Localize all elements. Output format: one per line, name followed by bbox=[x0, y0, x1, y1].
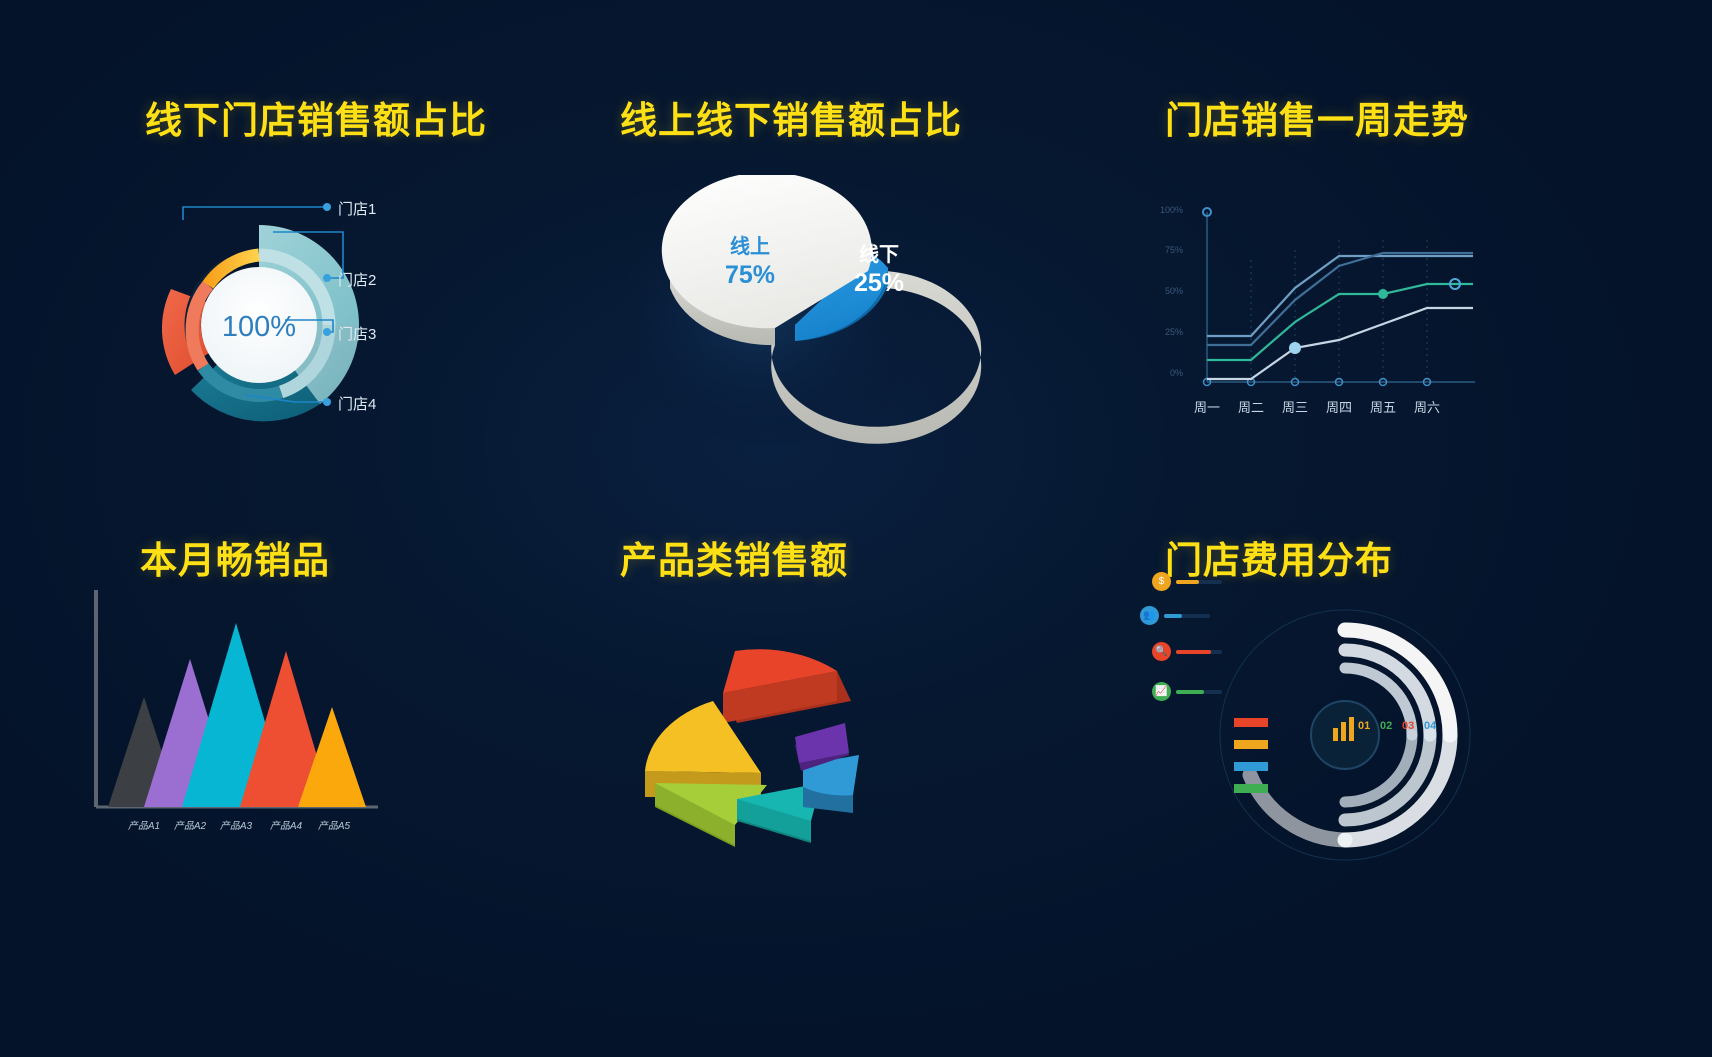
donut-label-store2: 门店2 bbox=[338, 269, 376, 290]
donut-label-store1: 门店1 bbox=[338, 198, 376, 219]
panel-weekly-trend: 门店销售一周走势 bbox=[1135, 70, 1655, 470]
pie3d-exploded-svg bbox=[605, 605, 935, 865]
mountain-label-a5: 产品A5 bbox=[310, 817, 358, 832]
legend-row-02 bbox=[1218, 740, 1272, 749]
x-tick-mon: 周一 bbox=[1185, 397, 1229, 416]
donut-label-store3: 门店3 bbox=[338, 323, 376, 344]
pie-label-offline-name: 线下 bbox=[839, 243, 919, 268]
kpi-row-2: 👥 bbox=[1140, 606, 1215, 625]
kpi-row-4: 📈 bbox=[1152, 682, 1227, 701]
y-tick-100: 100% bbox=[1153, 205, 1183, 215]
y-tick-0: 0% bbox=[1153, 368, 1183, 378]
legend-row-03 bbox=[1218, 762, 1272, 771]
x-tick-wed: 周三 bbox=[1273, 397, 1317, 416]
legend-chip-03 bbox=[1234, 762, 1268, 771]
mountain-svg bbox=[78, 585, 398, 825]
kpi-row-1: $ bbox=[1152, 572, 1227, 591]
mountain-label-a2: 产品A2 bbox=[166, 817, 214, 832]
users-icon: 👥 bbox=[1140, 606, 1159, 625]
x-tick-thu: 周四 bbox=[1317, 397, 1361, 416]
mountain-label-a1: 产品A1 bbox=[120, 817, 168, 832]
legend-row-01 bbox=[1218, 718, 1272, 727]
kpi-bar-2 bbox=[1164, 614, 1210, 618]
panel-product-category-sales: 产品类销售额 bbox=[585, 510, 1105, 910]
x-tick-fri: 周五 bbox=[1361, 397, 1405, 416]
line-series-2 bbox=[1207, 253, 1473, 345]
panel-store-sales-share: 线下门店销售额占比 bbox=[95, 70, 595, 470]
panel-title-weekly-trend: 门店销售一周走势 bbox=[1165, 90, 1469, 144]
line-series-3 bbox=[1207, 284, 1473, 360]
line-marker-2 bbox=[1378, 289, 1388, 299]
panel-title-store-sales-share: 线下门店销售额占比 bbox=[145, 90, 487, 144]
radial-infographic-store-cost: 01 02 03 04 $ 👥 🔍 📈 bbox=[1140, 600, 1540, 870]
panel-title-product-category: 产品类销售额 bbox=[620, 530, 848, 584]
legend-row-04 bbox=[1218, 784, 1272, 793]
panel-title-best-sellers: 本月畅销品 bbox=[140, 530, 330, 584]
radial-number-02: 02 bbox=[1380, 720, 1392, 732]
y-tick-25: 25% bbox=[1153, 327, 1183, 337]
legend-chip-04 bbox=[1234, 784, 1268, 793]
y-tick-75: 75% bbox=[1153, 245, 1183, 255]
dashboard-canvas: 线下门店销售额占比 bbox=[0, 0, 1712, 1057]
pie3d-online-offline: 线上 75% 线下 25% bbox=[625, 175, 985, 445]
pie-label-offline-value: 25% bbox=[839, 268, 919, 299]
panel-title-online-offline: 线上线下销售额占比 bbox=[620, 90, 962, 144]
line-series-4 bbox=[1207, 308, 1473, 379]
kpi-bar-1 bbox=[1176, 580, 1222, 584]
x-tick-sat: 周六 bbox=[1405, 397, 1449, 416]
legend-chip-02 bbox=[1234, 740, 1268, 749]
donut-leader-label-group: 门店1 门店2 门店3 门店4 bbox=[95, 180, 595, 470]
radial-number-03: 03 bbox=[1402, 720, 1414, 732]
line-marker-1 bbox=[1289, 342, 1301, 354]
donut-label-store4: 门店4 bbox=[338, 393, 376, 414]
pie3d-product-category bbox=[605, 605, 935, 865]
mountain-label-a4: 产品A4 bbox=[262, 817, 310, 832]
pie-label-online: 线上 75% bbox=[705, 235, 795, 291]
kpi-bar-3 bbox=[1176, 650, 1222, 654]
pie-label-online-name: 线上 bbox=[705, 235, 795, 260]
panel-online-offline-share: 线上线下销售额占比 bbox=[585, 70, 1085, 470]
mountain-chart-best-sellers: 产品A1 产品A2 产品A3 产品A4 产品A5 bbox=[78, 585, 398, 845]
kpi-row-3: 🔍 bbox=[1152, 642, 1227, 661]
radial-svg bbox=[1140, 600, 1540, 870]
radial-number-01: 01 bbox=[1358, 720, 1370, 732]
kpi-bar-4 bbox=[1176, 690, 1222, 694]
radial-number-04: 04 bbox=[1424, 720, 1436, 732]
x-tick-tue: 周二 bbox=[1229, 397, 1273, 416]
chart-icon: 📈 bbox=[1152, 682, 1171, 701]
y-tick-50: 50% bbox=[1153, 286, 1183, 296]
panel-store-cost-distribution: 门店费用分布 bbox=[1135, 510, 1675, 910]
coin-icon: $ bbox=[1152, 572, 1171, 591]
line-series-1 bbox=[1207, 256, 1473, 336]
panel-best-sellers: 本月畅销品 产品A1 产品A2 产品A3 产品A4 产品A5 bbox=[60, 510, 560, 910]
pie-label-online-value: 75% bbox=[705, 260, 795, 291]
line-chart-svg bbox=[1155, 200, 1485, 400]
search-icon: 🔍 bbox=[1152, 642, 1171, 661]
mountain-label-a3: 产品A3 bbox=[212, 817, 260, 832]
line-chart-weekly-trend: 100% 75% 50% 25% 0% 周一 周二 周三 周四 周五 周六 bbox=[1155, 200, 1485, 420]
pie-label-offline: 线下 25% bbox=[839, 243, 919, 299]
legend-chip-01 bbox=[1234, 718, 1268, 727]
pie3d-svg bbox=[625, 175, 985, 445]
